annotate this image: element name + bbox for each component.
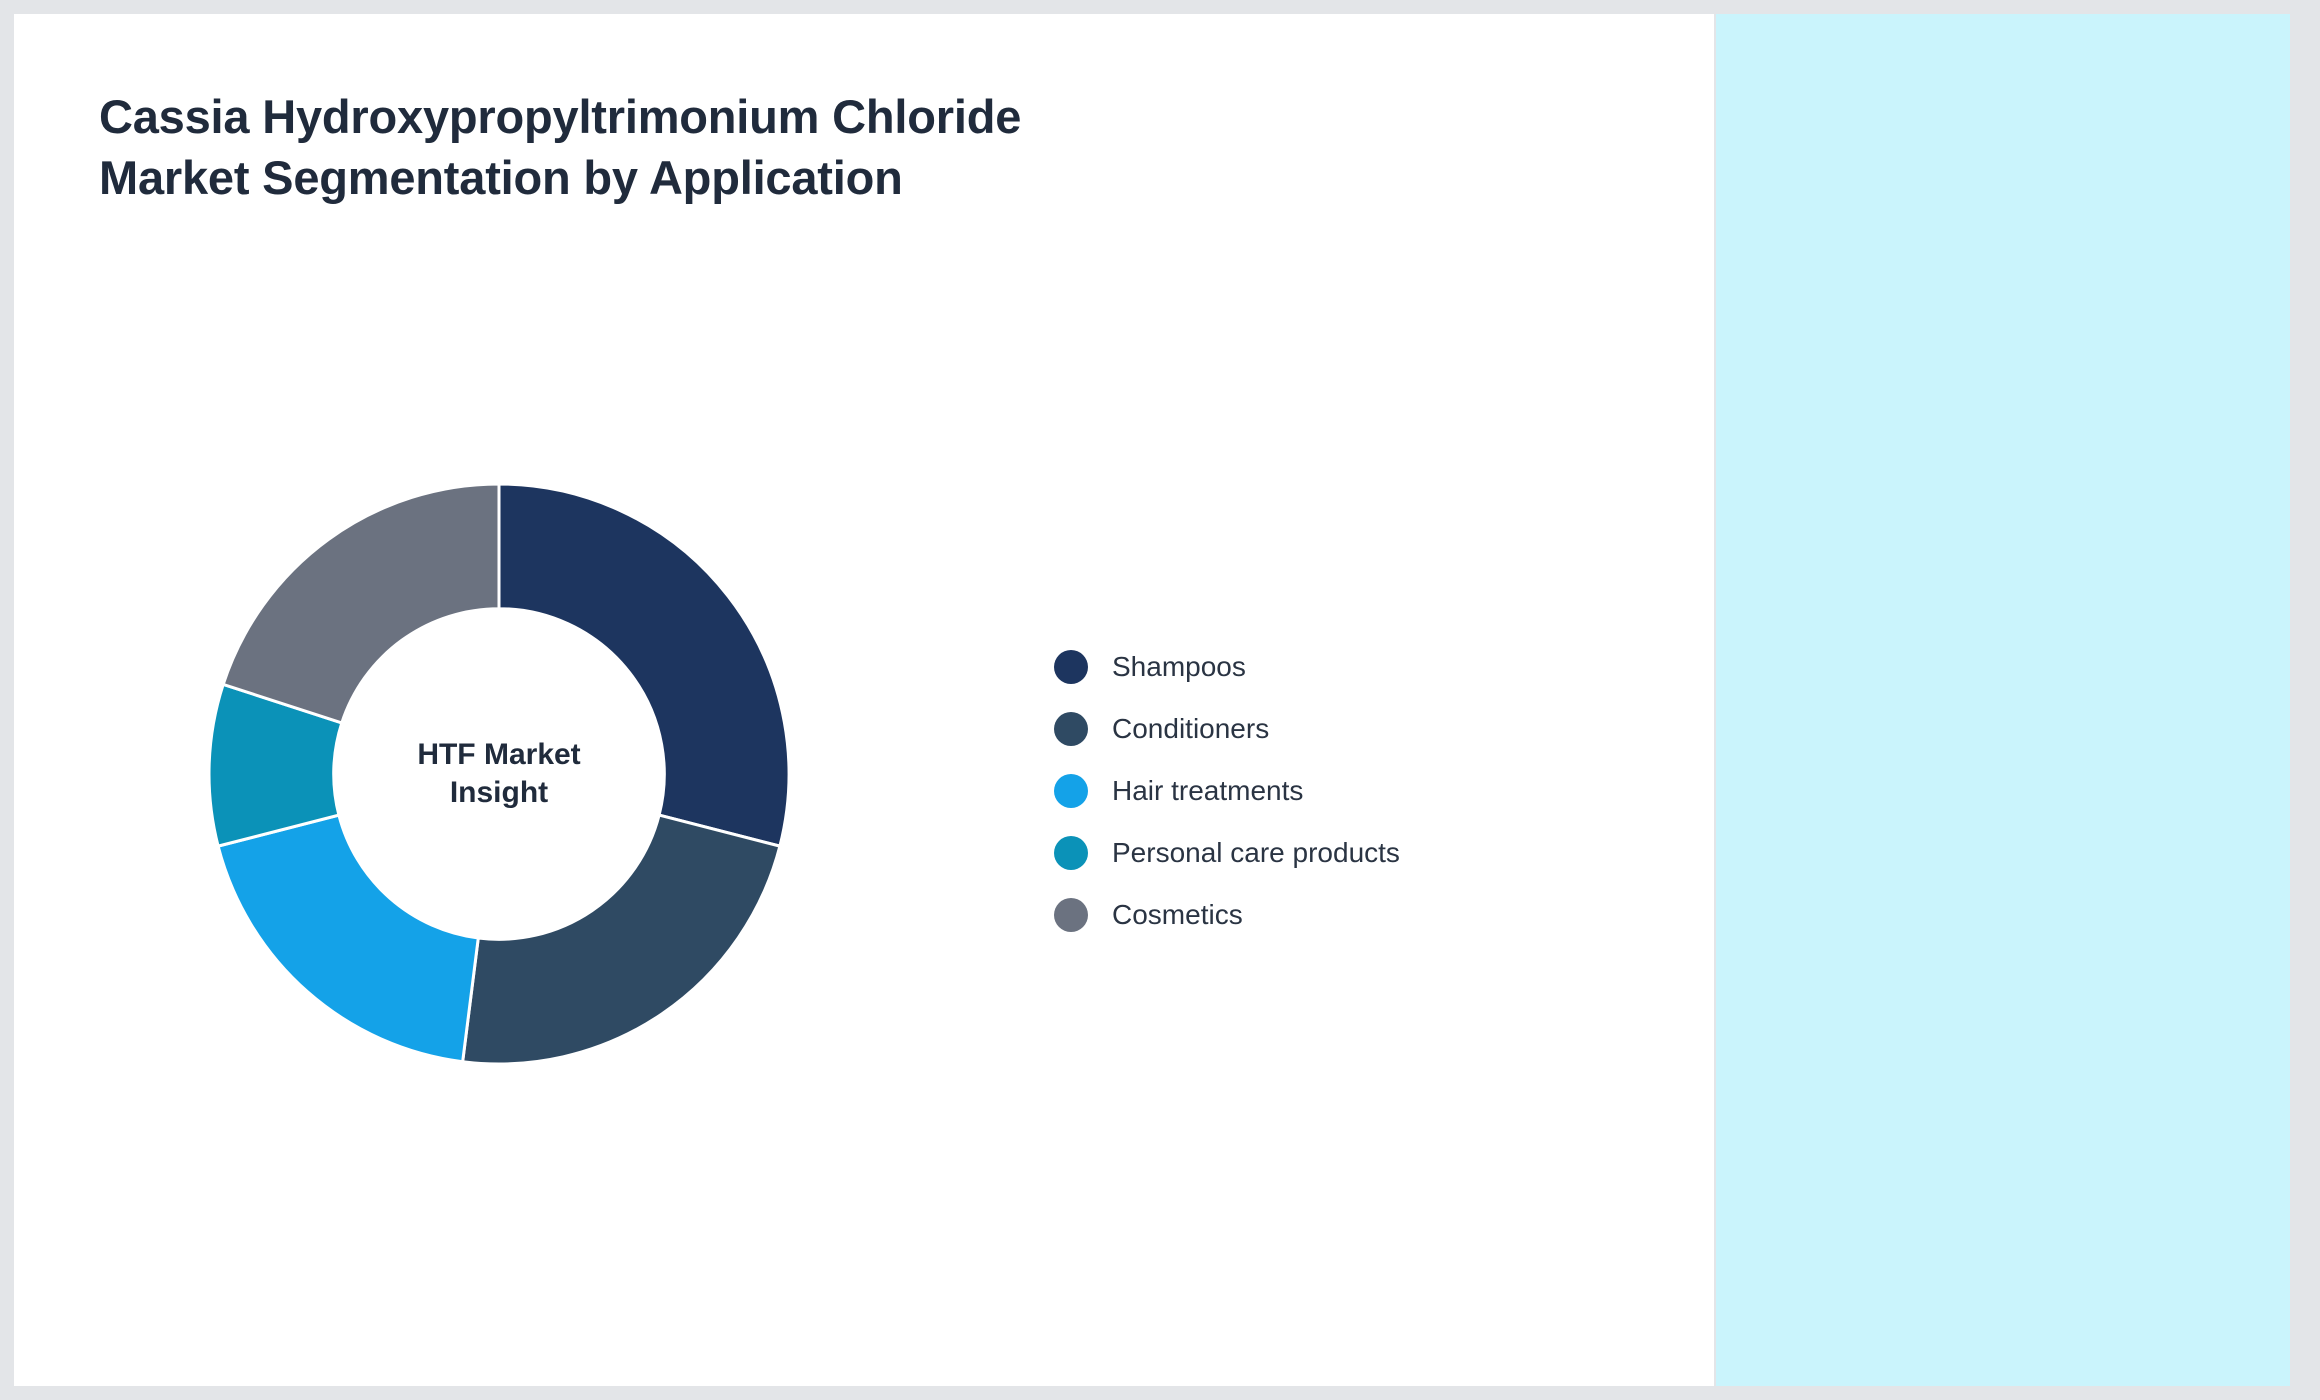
donut-slice[interactable]	[223, 484, 499, 723]
legend-item[interactable]: Hair treatments	[1054, 760, 1400, 822]
donut-slice[interactable]	[218, 815, 478, 1062]
legend-item-label: Hair treatments	[1112, 775, 1303, 807]
page-title: Cassia Hydroxypropyltrimonium Chloride M…	[99, 87, 1049, 207]
legend-item[interactable]: Personal care products	[1054, 822, 1400, 884]
legend-swatch-icon	[1054, 774, 1088, 808]
donut-svg	[209, 484, 789, 1064]
legend-item-label: Shampoos	[1112, 651, 1246, 683]
legend-item-label: Personal care products	[1112, 837, 1400, 869]
legend-swatch-icon	[1054, 712, 1088, 746]
legend-swatch-icon	[1054, 836, 1088, 870]
donut-slice[interactable]	[463, 815, 780, 1064]
legend-item[interactable]: Shampoos	[1054, 636, 1400, 698]
legend-item-label: Conditioners	[1112, 713, 1269, 745]
legend-item-label: Cosmetics	[1112, 899, 1243, 931]
legend-swatch-icon	[1054, 898, 1088, 932]
donut-slice-group	[209, 484, 789, 1064]
donut-slice[interactable]	[499, 484, 789, 846]
legend-item[interactable]: Conditioners	[1054, 698, 1400, 760]
side-panel: HTF Market Intelligence 9.6 billion Glob…	[1716, 14, 2290, 1386]
chart-legend: ShampoosConditionersHair treatmentsPerso…	[1054, 636, 1400, 946]
legend-swatch-icon	[1054, 650, 1088, 684]
infographic-canvas: Cassia Hydroxypropyltrimonium Chloride M…	[0, 0, 2320, 1400]
donut-chart: HTF Market Insight	[209, 484, 789, 1064]
main-card: Cassia Hydroxypropyltrimonium Chloride M…	[14, 14, 1714, 1386]
legend-item[interactable]: Cosmetics	[1054, 884, 1400, 946]
